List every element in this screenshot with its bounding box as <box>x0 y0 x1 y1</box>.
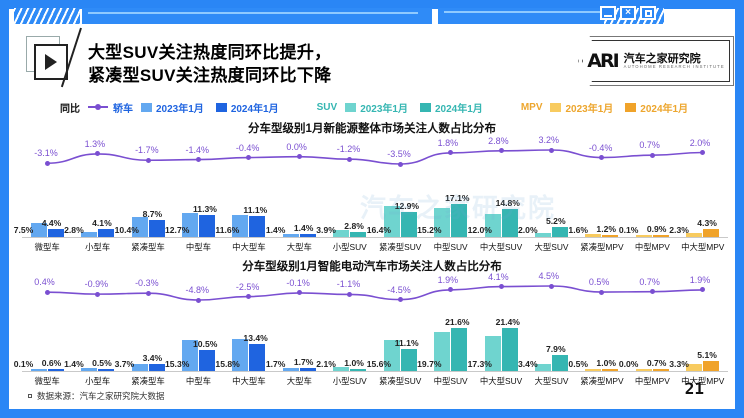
trend-label: 0.4% <box>34 277 55 287</box>
category-label: 紧凑型MPV <box>577 375 627 387</box>
chart-2-title: 分车型级别1月智能电动汽车市场关注人数占比分布 <box>0 258 744 274</box>
legend-item-mpv-2023[interactable]: 2023年1月 <box>550 100 613 115</box>
trend-label: 1.9% <box>690 275 711 285</box>
category-label: 中大型SUV <box>476 241 526 253</box>
trend-label: 0.5% <box>589 277 610 287</box>
window-controls[interactable]: × <box>600 6 656 20</box>
trend-label: -3.1% <box>34 148 58 158</box>
legend-label: 2023年1月 <box>565 100 613 115</box>
category-label: 中型车 <box>173 375 223 387</box>
category-label: 中型MPV <box>627 375 677 387</box>
trend-label: 2.0% <box>690 138 711 148</box>
legend-label: 2023年1月 <box>156 100 204 115</box>
category-label: 紧凑型车 <box>123 375 173 387</box>
trend-label: -4.8% <box>186 285 210 295</box>
category-label: 中大型SUV <box>476 375 526 387</box>
trend-label: -0.3% <box>135 278 159 288</box>
trend-point <box>146 291 151 296</box>
legend-label: 2023年1月 <box>360 100 408 115</box>
legend-swatch-icon <box>625 103 636 112</box>
bullet-icon <box>28 394 32 398</box>
trend-label: -0.1% <box>286 278 310 288</box>
category-label: 紧凑型车 <box>123 241 173 253</box>
legend-category-sedan: 轿车 <box>113 100 133 115</box>
trend-point <box>146 158 151 163</box>
legend-label: 2024年1月 <box>640 100 688 115</box>
legend-item-mpv-2024[interactable]: 2024年1月 <box>625 100 688 115</box>
trend-point <box>196 298 201 303</box>
titlebar-line-1 <box>88 12 418 14</box>
page-number: 21 <box>685 379 704 398</box>
minimize-button[interactable] <box>600 6 616 20</box>
category-label: 中型SUV <box>425 241 475 253</box>
legend-ratio-label: 同比 <box>60 100 80 115</box>
trend-label: 4.1% <box>488 272 509 282</box>
category-label: 中型车 <box>173 241 223 253</box>
trend-label: -1.1% <box>337 279 361 289</box>
category-label: 紧凑型MPV <box>577 241 627 253</box>
trend-label: -3.5% <box>387 149 411 159</box>
trend-point <box>398 162 403 167</box>
trend-point <box>45 161 50 166</box>
category-label: 中型MPV <box>627 241 677 253</box>
category-label: 微型车 <box>22 375 72 387</box>
page-title-line2: 紧凑型SUV关注热度同环比下降 <box>88 65 331 88</box>
chart-legend: 同比 轿车 2023年1月 2024年1月 SUV 2023年1月 2024年1… <box>60 98 724 116</box>
category-label: 紧凑型SUV <box>375 375 425 387</box>
trend-label: -2.5% <box>236 282 260 292</box>
close-button[interactable]: × <box>620 6 636 20</box>
category-label: 小型SUV <box>325 241 375 253</box>
legend-swatch-icon <box>141 103 152 112</box>
trend-label: -1.4% <box>186 145 210 155</box>
source-text: 数据来源：汽车之家研究院大数据 <box>37 390 165 402</box>
trend-label: 0.0% <box>286 142 307 152</box>
trend-label: 0.7% <box>639 277 660 287</box>
trend-label: 1.3% <box>85 139 106 149</box>
chart-2: 0.1%0.6%微型车1.4%0.5%小型车3.7%3.4%紧凑型车15.3%1… <box>22 280 728 372</box>
trend-point <box>297 154 302 159</box>
category-label: 小型车 <box>72 375 122 387</box>
trend-label: 3.2% <box>539 135 560 145</box>
trend-point <box>549 148 554 153</box>
source-note: 数据来源：汽车之家研究院大数据 <box>28 390 165 402</box>
trend-point <box>499 148 504 153</box>
legend-swatch-icon <box>345 103 356 112</box>
trend-label: 0.7% <box>639 140 660 150</box>
logo-en-text: AUTOHOME RESEARCH INSTITUTE <box>624 65 725 70</box>
trend-label: 1.9% <box>438 275 459 285</box>
trend-point <box>650 153 655 158</box>
page-title-line1: 大型SUV关注热度同环比提升， <box>88 42 331 65</box>
legend-swatch-icon <box>216 103 227 112</box>
chart-1: 7.5%4.4%微型车2.8%4.1%小型车10.4%8.7%紧凑型车12.7%… <box>22 142 728 238</box>
trend-label: -0.4% <box>589 143 613 153</box>
category-label: 微型车 <box>22 241 72 253</box>
trend-point <box>347 157 352 162</box>
trend-label: -1.7% <box>135 145 159 155</box>
legend-item-suv-2023[interactable]: 2023年1月 <box>345 100 408 115</box>
legend-item-suv-2024[interactable]: 2024年1月 <box>420 100 483 115</box>
logo-mark: ARI <box>587 50 617 72</box>
play-triangle-icon <box>45 54 57 70</box>
category-label: 中大型车 <box>224 241 274 253</box>
logo-cn-text: 汽车之家研究院 <box>624 53 725 65</box>
legend-label: 2024年1月 <box>435 100 483 115</box>
slide-header: 大型SUV关注热度同环比提升， 紧凑型SUV关注热度同环比下降 ARI 汽车之家… <box>0 22 744 94</box>
page-title: 大型SUV关注热度同环比提升， 紧凑型SUV关注热度同环比下降 <box>88 42 331 88</box>
play-button[interactable] <box>34 44 68 80</box>
trend-point <box>549 284 554 289</box>
category-label: 中大型车 <box>224 375 274 387</box>
category-label: 大型SUV <box>526 241 576 253</box>
trend-label: -4.5% <box>387 285 411 295</box>
category-label: 小型SUV <box>325 375 375 387</box>
legend-swatch-icon <box>550 103 561 112</box>
trend-label: -0.9% <box>85 279 109 289</box>
category-label: 大型车 <box>274 241 324 253</box>
trend-label: -0.4% <box>236 143 260 153</box>
brand-logo: ARI 汽车之家研究院 AUTOHOME RESEARCH INSTITUTE <box>582 40 730 82</box>
category-label: 中型SUV <box>425 375 475 387</box>
legend-line-swatch <box>88 106 108 108</box>
category-label: 紧凑型SUV <box>375 241 425 253</box>
legend-item-sedan-2024[interactable]: 2024年1月 <box>216 100 279 115</box>
trend-label: -1.2% <box>337 144 361 154</box>
maximize-button[interactable] <box>640 6 656 20</box>
trend-label: 2.8% <box>488 136 509 146</box>
chart-1-title: 分车型级别1月新能源整体市场关注人数占比分布 <box>0 120 744 136</box>
legend-category-mpv: MPV <box>521 102 543 113</box>
trend-point <box>45 290 50 295</box>
legend-item-sedan-2023[interactable]: 2023年1月 <box>141 100 204 115</box>
legend-label: 2024年1月 <box>231 100 279 115</box>
trend-point <box>499 284 504 289</box>
category-label: 小型车 <box>72 241 122 253</box>
legend-category-suv: SUV <box>317 102 338 113</box>
trend-label: 1.8% <box>438 138 459 148</box>
slide-frame: × 大型SUV关注热度同环比提升， 紧凑型SUV关注热度同环比下降 ARI 汽车… <box>0 0 744 418</box>
trend-point <box>95 292 100 297</box>
trend-point <box>398 297 403 302</box>
category-label: 中大型MPV <box>678 241 728 253</box>
trend-label: 4.5% <box>539 271 560 281</box>
category-label: 大型车 <box>274 375 324 387</box>
legend-swatch-icon <box>420 103 431 112</box>
category-label: 大型SUV <box>526 375 576 387</box>
